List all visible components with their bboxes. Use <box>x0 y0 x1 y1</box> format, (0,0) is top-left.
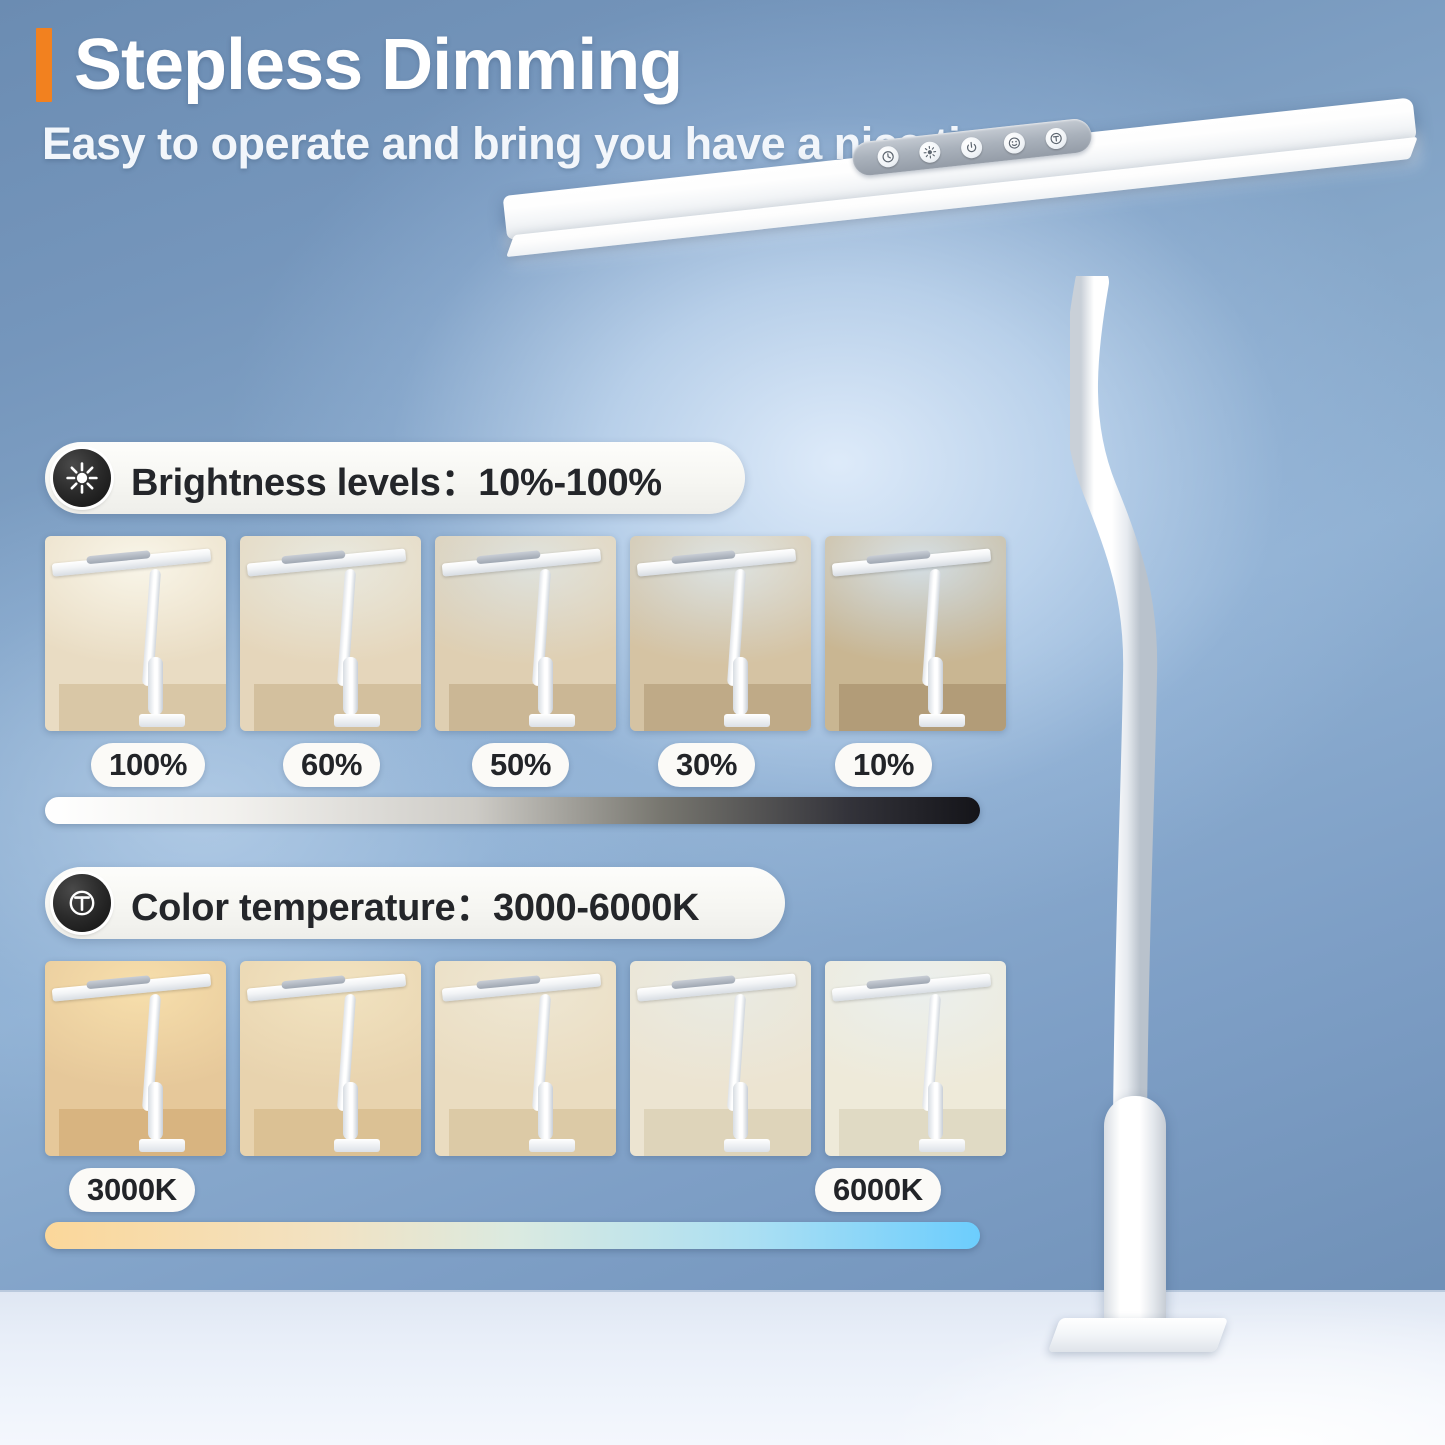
desk-surface <box>0 1290 1445 1445</box>
thumbnail-brightness-60[interactable] <box>240 536 421 731</box>
desk-light-glow <box>825 1290 1445 1445</box>
brightness-label-100: 100% <box>91 743 205 787</box>
brightness-thumbnail-row <box>45 536 980 731</box>
accent-bar <box>36 28 52 102</box>
thumbnail-temp-3000k[interactable] <box>45 961 226 1156</box>
color-temperature-label-3000k: 3000K <box>69 1168 195 1212</box>
brightness-heading-text: Brightness levels：10%-100% <box>131 451 662 506</box>
thumbnail-brightness-100[interactable] <box>45 536 226 731</box>
thumbnail-temp-5250k[interactable] <box>630 961 811 1156</box>
brightness-section: Brightness levels：10%-100% 100% 60% 50% … <box>45 442 980 824</box>
thumbnail-temp-6000k[interactable] <box>825 961 1006 1156</box>
temperature-icon <box>53 874 111 932</box>
color-temperature-value-row: 3000K 6000K <box>45 1168 980 1214</box>
brightness-label-30: 30% <box>658 743 755 787</box>
brightness-label-50: 50% <box>472 743 569 787</box>
brightness-slider[interactable] <box>45 797 980 824</box>
thumbnail-temp-4500k[interactable] <box>435 961 616 1156</box>
title-row: Stepless Dimming <box>36 28 1236 102</box>
thumbnail-brightness-50[interactable] <box>435 536 616 731</box>
thumbnail-brightness-10[interactable] <box>825 536 1006 731</box>
brightness-label-10: 10% <box>835 743 932 787</box>
color-temperature-header: Color temperature：3000-6000K <box>45 867 785 939</box>
thumbnail-temp-3750k[interactable] <box>240 961 421 1156</box>
brightness-header: Brightness levels：10%-100% <box>45 442 745 514</box>
color-temperature-slider[interactable] <box>45 1222 980 1249</box>
sun-icon <box>53 449 111 507</box>
color-temperature-thumbnail-row <box>45 961 980 1156</box>
page-subtitle: Easy to operate and bring you have a nic… <box>42 118 1236 170</box>
color-temperature-label-6000k: 6000K <box>815 1168 941 1212</box>
brightness-label-60: 60% <box>283 743 380 787</box>
page-title: Stepless Dimming <box>74 29 682 101</box>
header: Stepless Dimming Easy to operate and bri… <box>36 28 1236 170</box>
brightness-value-row: 100% 60% 50% 30% 10% <box>45 743 980 789</box>
thumbnail-brightness-30[interactable] <box>630 536 811 731</box>
color-temperature-section: Color temperature：3000-6000K 3000K 6000K <box>45 867 980 1249</box>
color-temperature-heading-text: Color temperature：3000-6000K <box>131 876 699 931</box>
